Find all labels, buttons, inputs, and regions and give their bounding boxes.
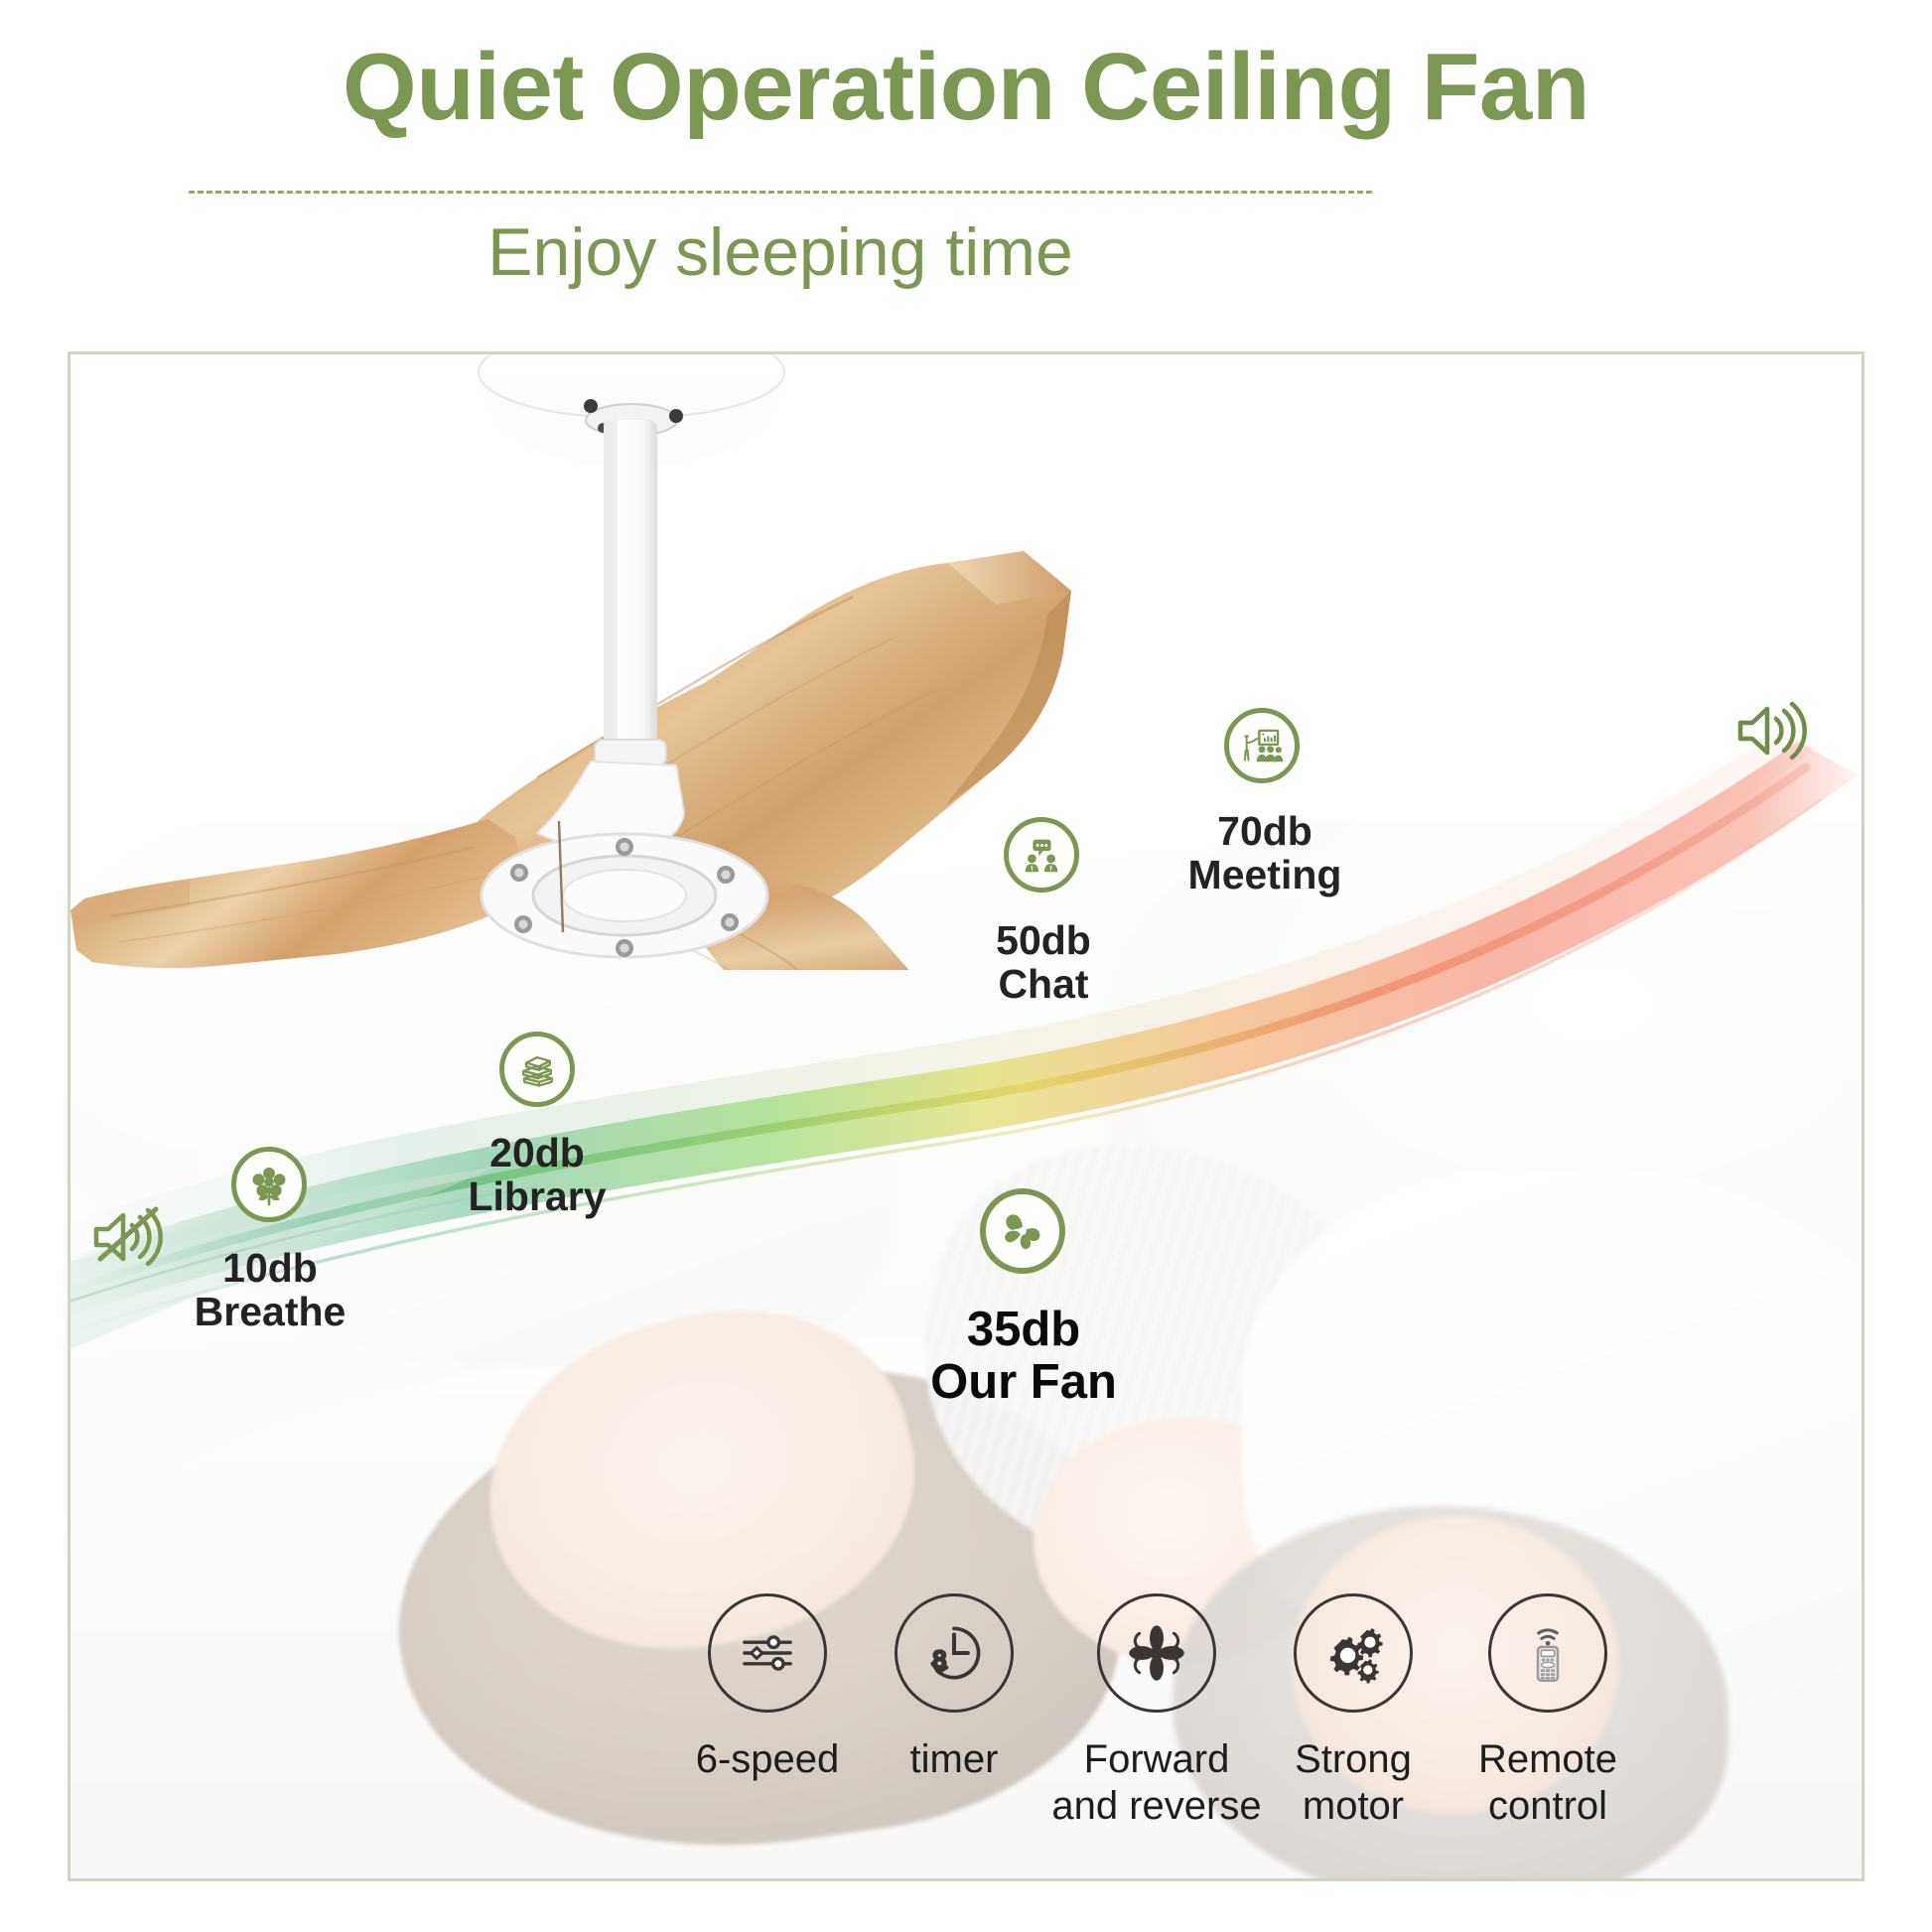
feature-label-forward-reverse: Forwardand reverse (1028, 1736, 1286, 1830)
books-icon (499, 1032, 575, 1107)
meeting-icon (1224, 708, 1300, 783)
db-label-meeting: 70dbMeeting (1161, 809, 1369, 897)
db-marker-meeting: 70dbMeeting (1224, 708, 1300, 783)
db-marker-breathe: 10dbBreathe (231, 1147, 307, 1222)
gears-icon (1294, 1593, 1413, 1713)
feature-label-remote-control: Remotecontrol (1449, 1736, 1647, 1830)
infographic-canvas: Quiet Operation Ceiling Fan Enjoy sleepi… (0, 0, 1932, 1932)
db-label-breathe: 10dbBreathe (138, 1246, 402, 1334)
db-marker-chat: 50dbChat (1004, 817, 1079, 893)
db-label-chat: 50dbChat (952, 918, 1135, 1007)
svg-text:8: 8 (932, 1647, 946, 1674)
feature-remote-control: Remotecontrol (1449, 1593, 1647, 1830)
remote-control-icon (1488, 1593, 1607, 1713)
feature-6-speed: 6-speed (668, 1593, 867, 1783)
db-label-library: 20dbLibrary (422, 1131, 652, 1219)
fan-blade-icon (980, 1188, 1065, 1274)
product-panel: 10dbBreathe (68, 351, 1864, 1881)
feature-label-6-speed: 6-speed (668, 1736, 867, 1783)
feature-forward-reverse: Forwardand reverse (1028, 1593, 1286, 1830)
page-subtitle: Enjoy sleeping time (189, 213, 1372, 291)
timer-clock-icon: 8 (895, 1593, 1014, 1713)
feature-timer: 8 timer (855, 1593, 1053, 1783)
db-label-our-fan: 35dbOur Fan (869, 1304, 1178, 1409)
feature-label-strong-motor: Strongmotor (1254, 1736, 1452, 1830)
header-divider (189, 191, 1372, 194)
speaker-loud-icon (1734, 697, 1812, 764)
page-title: Quiet Operation Ceiling Fan (0, 38, 1932, 138)
flower-icon (231, 1147, 307, 1222)
db-marker-our-fan: 35dbOur Fan (980, 1188, 1065, 1274)
chat-people-icon (1004, 817, 1079, 893)
forward-reverse-icon (1097, 1593, 1216, 1713)
feature-label-timer: timer (855, 1736, 1053, 1783)
speed-slider-icon (708, 1593, 827, 1713)
db-marker-library: 20dbLibrary (499, 1032, 575, 1107)
feature-strong-motor: Strongmotor (1254, 1593, 1452, 1830)
